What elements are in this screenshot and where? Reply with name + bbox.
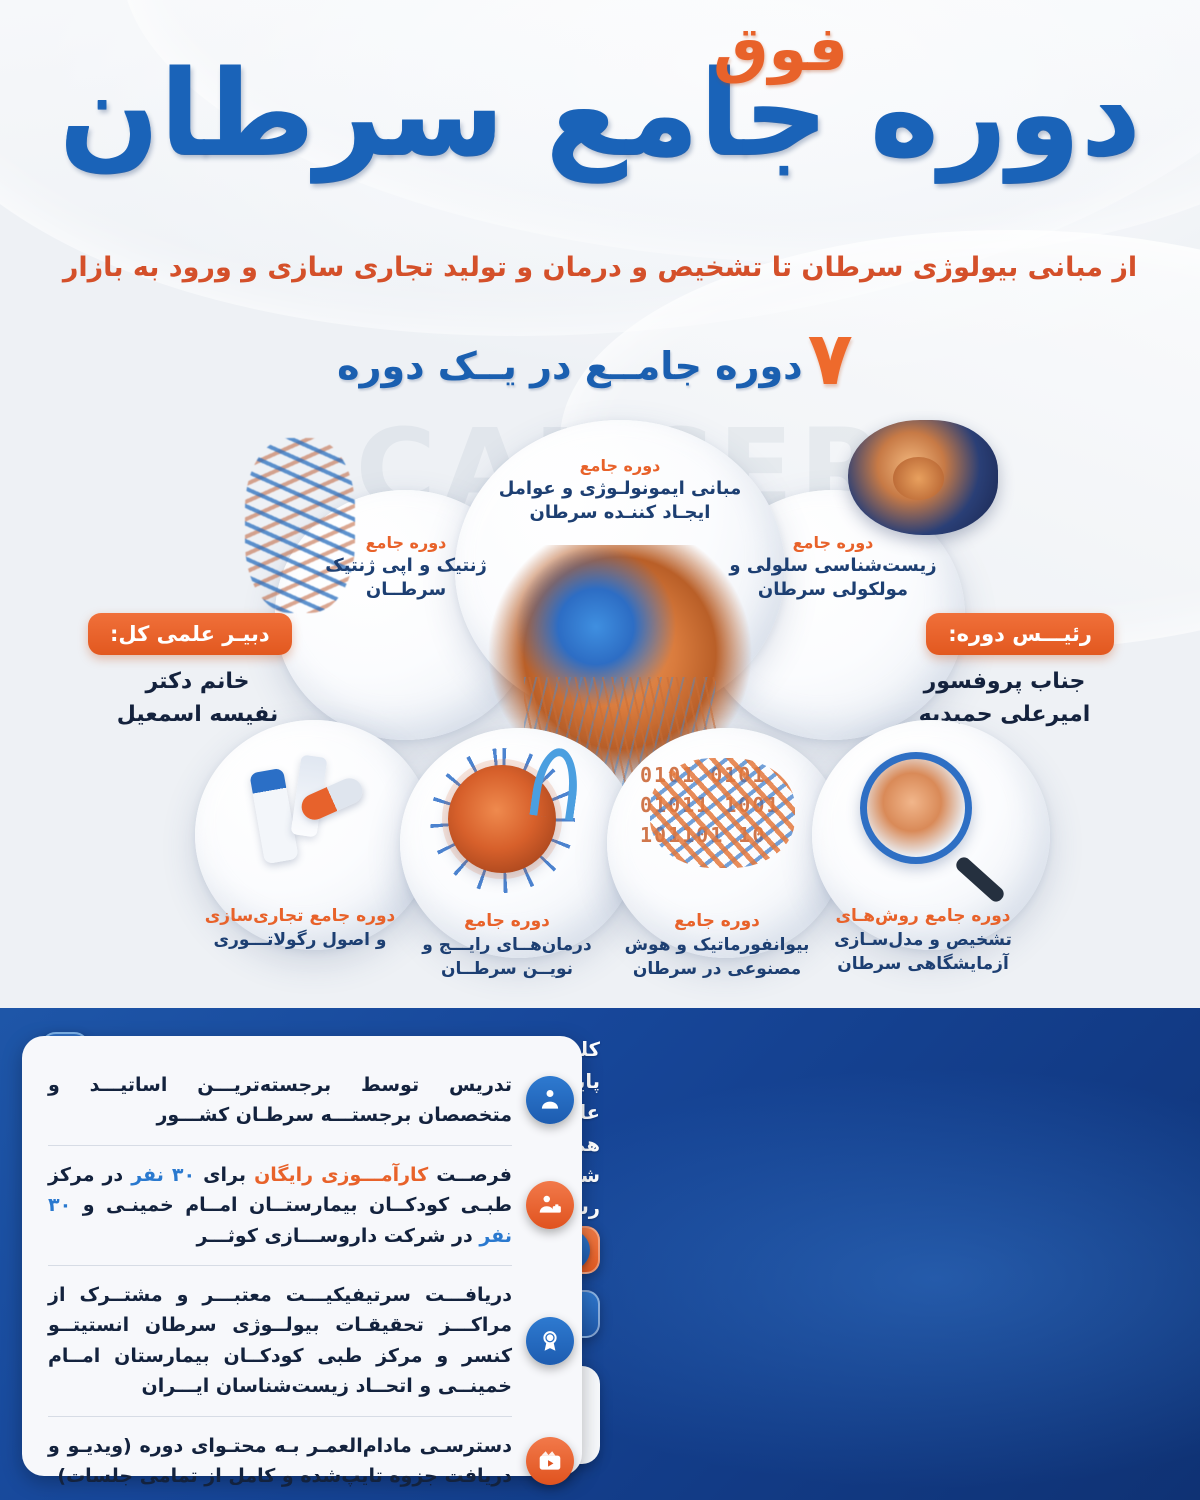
feature-item: دریافـــت سرتیفیکیـــت معتبـــر و مشتــر… <box>48 1265 512 1416</box>
bubble-title-line2: ایجـاد کننـده سرطان <box>470 501 770 525</box>
secretary-tag: دبیـر علمی کل: <box>88 613 292 655</box>
award-medal-icon <box>526 1317 574 1365</box>
bubble-title-line1: زیست‌شناسی سلولی و <box>712 554 954 578</box>
bubble-diagnostics-label: دوره جامع روش‌هـای تشخیص و مدل‌سـازی آزم… <box>808 905 1038 976</box>
bubble-kicker: دوره جامع <box>470 455 770 477</box>
feature-text: دریافـــت سرتیفیکیـــت معتبـــر و مشتــر… <box>48 1280 512 1402</box>
bubble-title-line2: آزمایشگاهی سرطان <box>808 953 1038 977</box>
bubble-treatments-label: دوره جامع درمان‌هــای رایـــج و نویــن س… <box>392 910 622 981</box>
feature-text: دسترسـی مادام‌العمـر بـه محتـوای دوره (و… <box>48 1431 512 1492</box>
bubble-commercialization-label: دوره جامع تجاری‌سازی و اصول رگولاتـــوری <box>185 905 415 953</box>
bubble-kicker: دوره جامع روش‌هـای <box>808 905 1038 929</box>
seven-label: دوره جامــع در یــک دوره <box>337 344 802 388</box>
title-text: دوره جامع سرطان <box>59 44 1141 182</box>
bubble-cellbio-label: دوره جامع زیست‌شناسی سلولی و مولکولی سرط… <box>712 532 954 602</box>
title-block: دوره جامع سرطان فوق <box>0 52 1200 176</box>
feature-text: تدریس توسط برجسته‌تریـــن اساتیـــد و مت… <box>48 1070 512 1131</box>
bubble-title-line1: درمان‌هــای رایـــج و <box>392 934 622 958</box>
secretary-name: خانم دکتر نفیسه اسمعیل <box>90 665 305 731</box>
bubble-kicker: دوره جامع <box>392 910 622 934</box>
bubble-title: و اصول رگولاتـــوری <box>185 929 415 953</box>
feature-item: تدریس توسط برجسته‌تریـــن اساتیـــد و مت… <box>48 1056 512 1145</box>
subtitle: از مبانی بیولوژی سرطان تا تشخیص و درمان … <box>0 252 1200 283</box>
features-card: تدریس توسط برجسته‌تریـــن اساتیـــد و مت… <box>22 1036 582 1476</box>
chair-tag: رئیـــس دوره: <box>926 613 1114 655</box>
protein-binary-icon <box>650 758 795 868</box>
feature-item: فرصــت کارآمـــوزی رایگان برای ۳۰ نفر در… <box>48 1145 512 1265</box>
bubble-title-line2: مصنوعی در سرطان <box>602 958 832 982</box>
page-title: دوره جامع سرطان فوق <box>0 52 1200 176</box>
cell-diagram-icon <box>848 420 998 535</box>
bubble-title-line1: تشخیص و مدل‌سـازی <box>808 929 1038 953</box>
bubble-kicker: دوره جامع <box>602 910 832 934</box>
bubble-immunology-label: دوره جامع مبانی ایمونولـوژی و عوامل ایجـ… <box>470 455 770 525</box>
chair-name-line1: جناب پروفسور <box>897 665 1112 698</box>
poster-root: CANCER دوره جامع سرطان فوق از مبانی بیول… <box>0 0 1200 1500</box>
bubble-bioinformatics-label: دوره جامع بیوانفورماتیک و هوش مصنوعی در … <box>602 910 832 981</box>
title-superscript: فوق <box>713 16 848 81</box>
video-play-icon <box>526 1437 574 1485</box>
bubble-kicker: دوره جامع <box>712 532 954 554</box>
internship-person-icon <box>526 1181 574 1229</box>
bubble-title-line1: ژنتیک و اپی ژنتیک <box>286 554 526 578</box>
seven-number: ۷ <box>808 316 853 402</box>
bubble-kicker: دوره جامع تجاری‌سازی <box>185 905 415 929</box>
bubble-title-line1: بیوانفورماتیک و هوش <box>602 934 832 958</box>
feature-text: فرصــت کارآمـــوزی رایگان برای ۳۰ نفر در… <box>48 1160 512 1251</box>
bubble-title-line1: مبانی ایمونولـوژی و عوامل <box>470 477 770 501</box>
bubble-kicker: دوره جامع <box>286 532 526 554</box>
bubble-title-line2: نویــن سرطــان <box>392 958 622 982</box>
feature-item: دسترسـی مادام‌العمـر بـه محتـوای دوره (و… <box>48 1416 512 1500</box>
bubble-genetics-label: دوره جامع ژنتیک و اپی ژنتیک سرطــان <box>286 532 526 602</box>
bubble-title-line2: مولکولی سرطان <box>712 578 954 602</box>
secretary-name-line1: خانم دکتر <box>90 665 305 698</box>
seven-courses-line: ۷ دوره جامــع در یــک دوره <box>0 330 1200 402</box>
bubble-title-line2: سرطــان <box>286 578 526 602</box>
info-panel: کلیه دانشجویان و فارغ‌التحصیلان رشته‌های… <box>0 1008 1200 1500</box>
teacher-icon <box>526 1076 574 1124</box>
magnifier-lab-icon <box>860 752 972 864</box>
